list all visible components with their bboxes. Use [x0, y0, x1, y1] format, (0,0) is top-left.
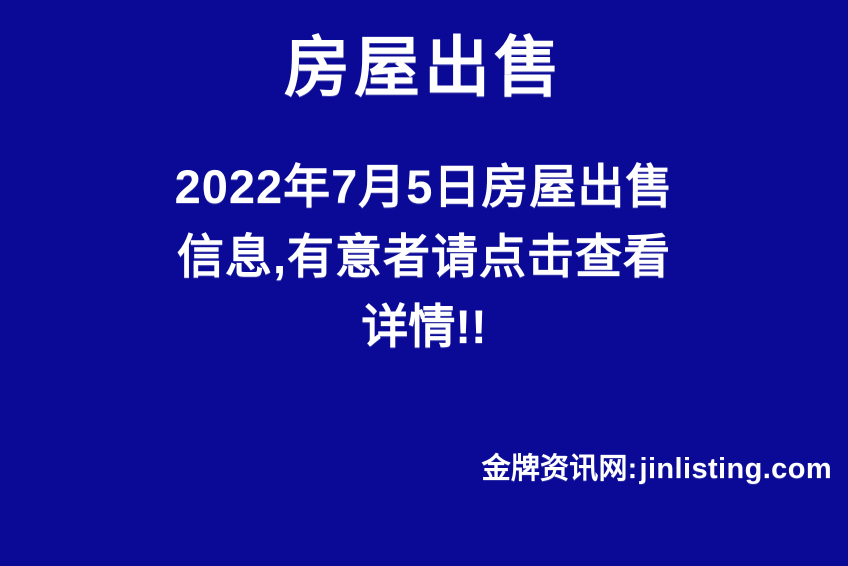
page-title: 房屋出售 — [284, 28, 564, 106]
body-line-1: 2022年7月5日房屋出售 — [0, 152, 848, 222]
title-block: 房屋出售 — [0, 28, 848, 106]
poster-canvas: 房屋出售 2022年7月5日房屋出售 信息,有意者请点击查看 详情!! 金牌资讯… — [0, 0, 848, 566]
brand-credit: 金牌资讯网:jinlisting.com — [482, 452, 832, 486]
body-text-block: 2022年7月5日房屋出售 信息,有意者请点击查看 详情!! — [0, 152, 848, 362]
body-line-2: 信息,有意者请点击查看 — [0, 222, 848, 292]
body-line-3: 详情!! — [0, 292, 848, 362]
brand-url-label: jinlisting.com — [640, 453, 833, 485]
footer-block: 金牌资讯网:jinlisting.com — [0, 452, 848, 486]
brand-name-label: 金牌资讯网: — [482, 453, 638, 485]
